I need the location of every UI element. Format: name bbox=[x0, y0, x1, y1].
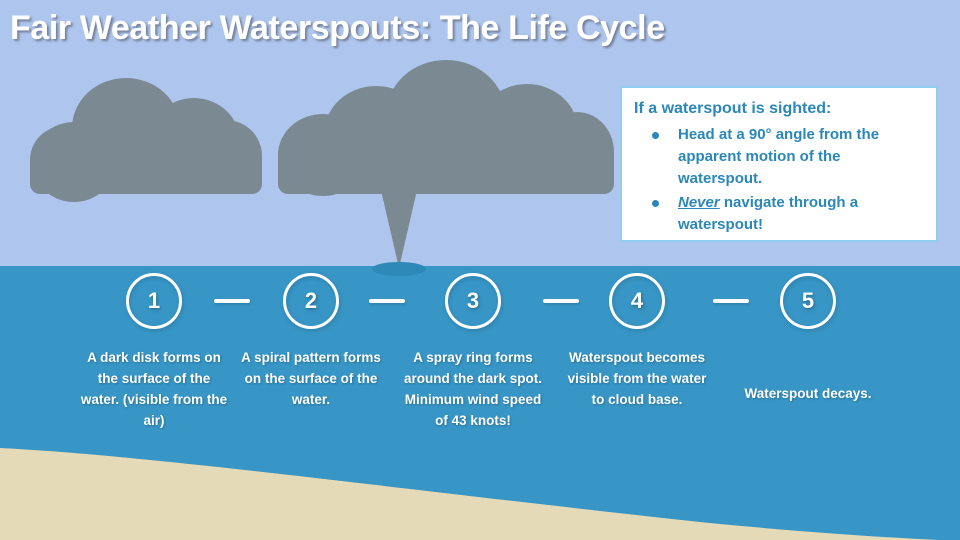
info-item-text: Head at a 90° angle from the apparent mo… bbox=[678, 126, 879, 187]
cloud-base bbox=[30, 126, 262, 194]
info-list-item: Head at a 90° angle from the apparent mo… bbox=[640, 124, 924, 190]
cloud-right bbox=[278, 60, 614, 194]
step-circle-5[interactable]: 5 bbox=[780, 273, 836, 329]
waterspout-funnel bbox=[380, 186, 418, 268]
cloud-base bbox=[278, 122, 614, 194]
step-connector-1-2 bbox=[214, 299, 250, 303]
cloud-left bbox=[30, 68, 262, 194]
step-circle-1[interactable]: 1 bbox=[126, 273, 182, 329]
infographic-canvas: Fair Weather Waterspouts: The Life Cycle… bbox=[0, 0, 960, 540]
step-caption-5: Waterspout decays. bbox=[723, 383, 893, 404]
spray-ring bbox=[372, 262, 426, 276]
page-title: Fair Weather Waterspouts: The Life Cycle bbox=[10, 9, 665, 48]
step-connector-2-3 bbox=[369, 299, 405, 303]
step-caption-4: Waterspout becomes visible from the wate… bbox=[563, 347, 711, 410]
step-connector-4-5 bbox=[713, 299, 749, 303]
bullet-icon bbox=[652, 132, 659, 139]
step-caption-3: A spray ring forms around the dark spot.… bbox=[399, 347, 547, 431]
step-caption-1: A dark disk forms on the surface of the … bbox=[80, 347, 228, 431]
step-caption-2: A spiral pattern forms on the surface of… bbox=[237, 347, 385, 410]
step-circle-4[interactable]: 4 bbox=[609, 273, 665, 329]
funnel-cone bbox=[380, 186, 418, 268]
step-circle-3[interactable]: 3 bbox=[445, 273, 501, 329]
bullet-icon bbox=[652, 200, 659, 207]
info-box-list: Head at a 90° angle from the apparent mo… bbox=[640, 124, 924, 238]
safety-info-box: If a waterspout is sighted: Head at a 90… bbox=[620, 86, 938, 242]
info-item-emphasis: Never bbox=[678, 194, 720, 211]
info-list-item: Never navigate through a waterspout! bbox=[640, 192, 924, 236]
info-box-heading: If a waterspout is sighted: bbox=[634, 100, 831, 118]
step-connector-3-4 bbox=[543, 299, 579, 303]
footer: NOAA NATIONAL WEATHER SERVICE NATIONAL O… bbox=[0, 484, 960, 540]
step-circle-2[interactable]: 2 bbox=[283, 273, 339, 329]
